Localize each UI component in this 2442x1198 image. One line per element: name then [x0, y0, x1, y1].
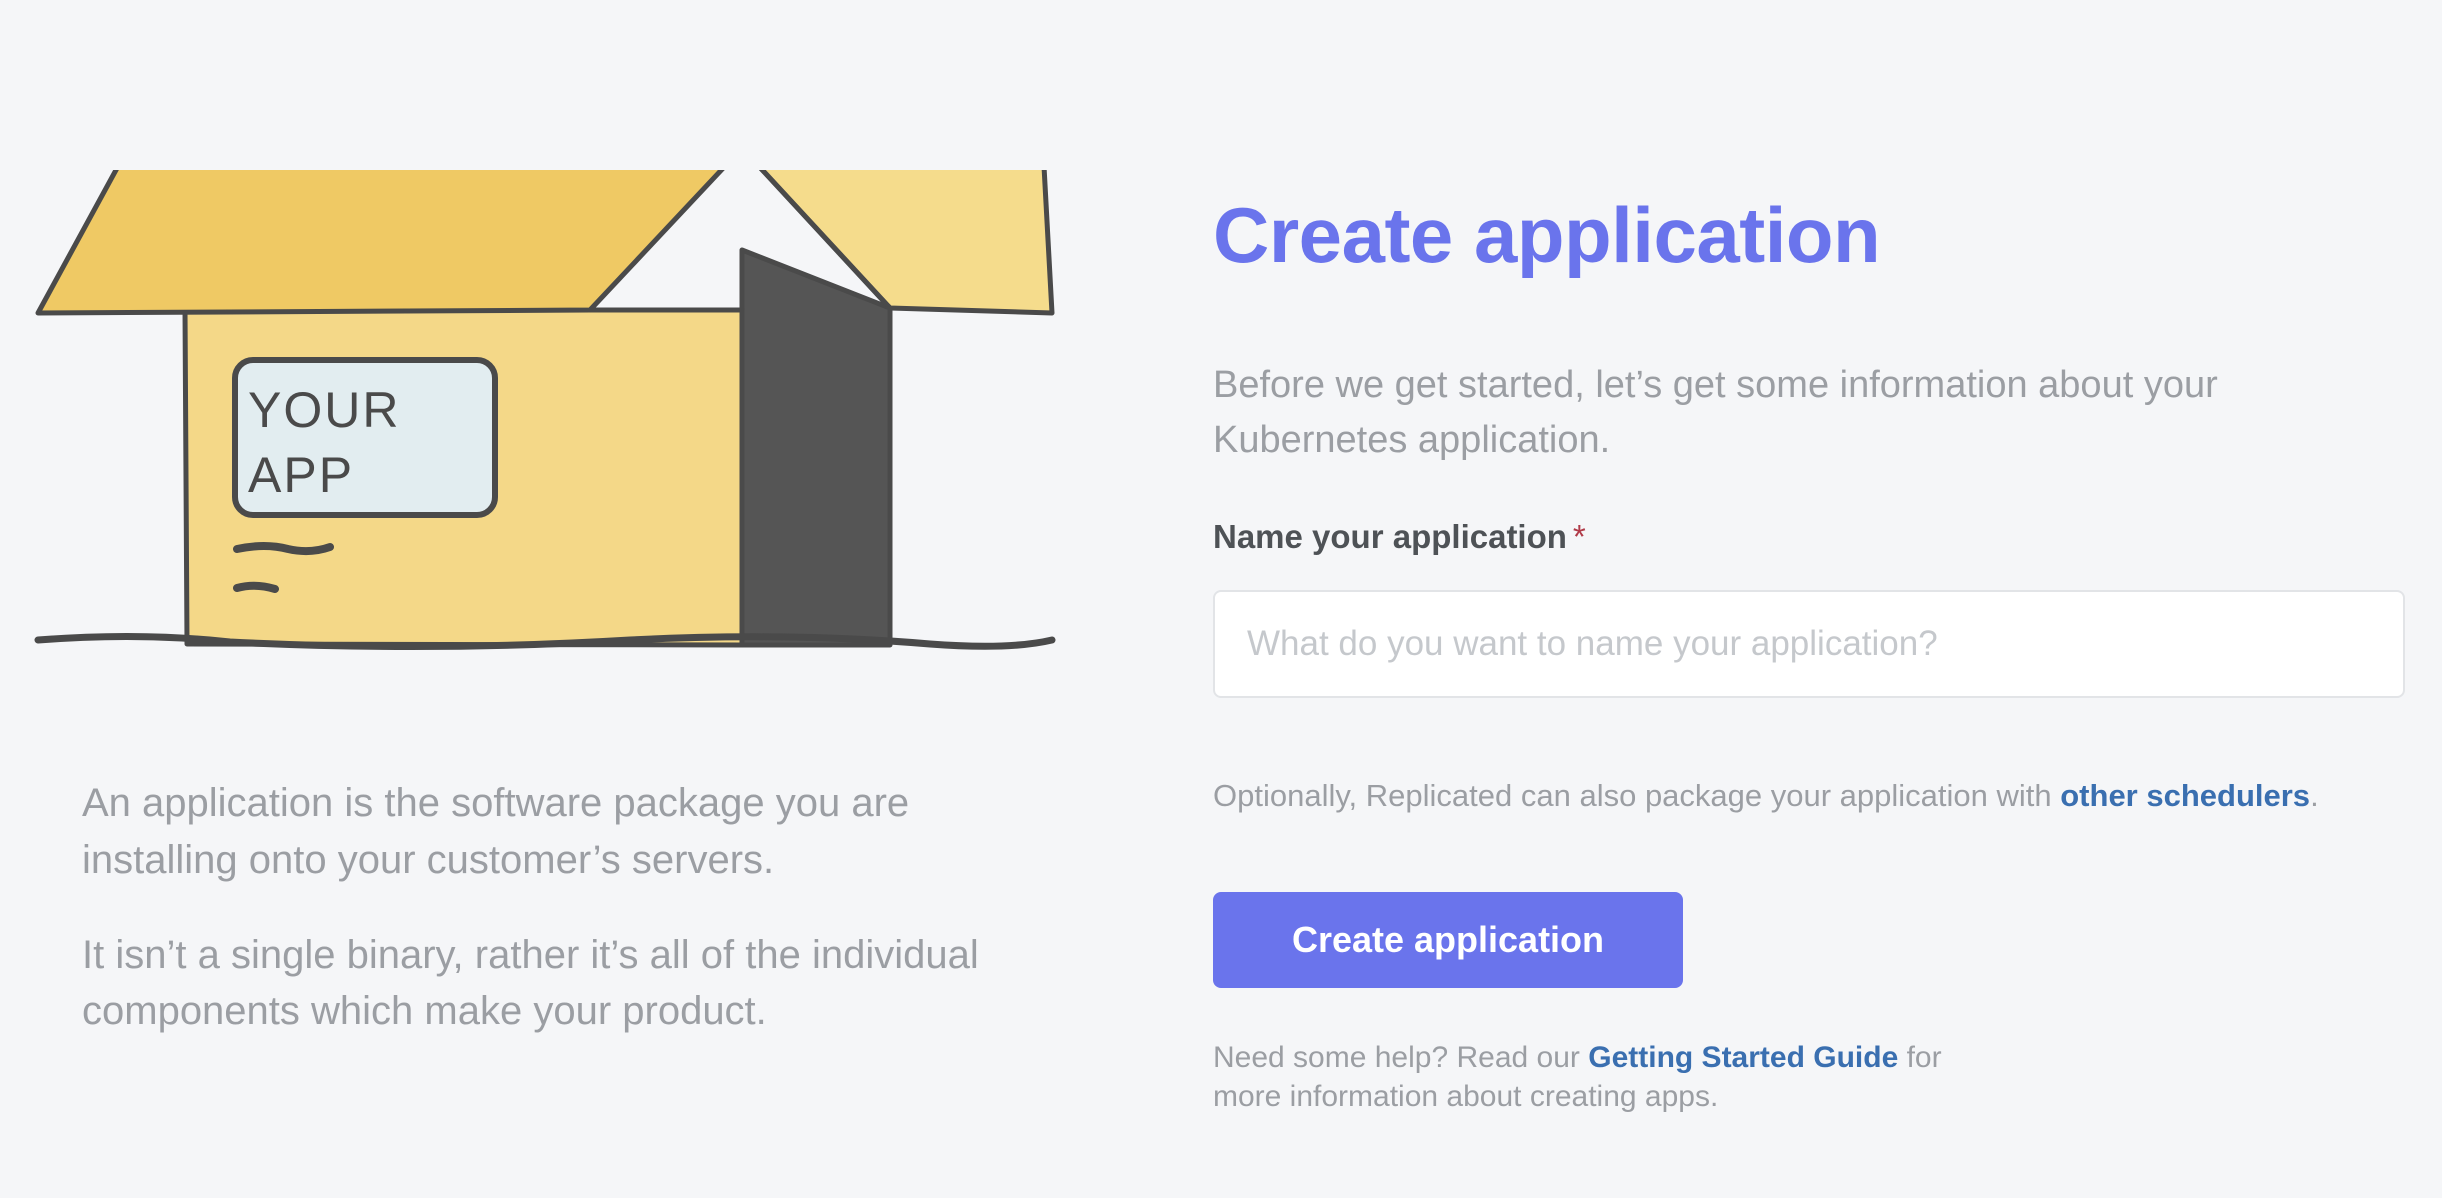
- page-title: Create application: [1213, 196, 1880, 274]
- left-paragraph-2: It isn’t a single binary, rather it’s al…: [82, 927, 1012, 1041]
- help-text: Need some help? Read our Getting Started…: [1213, 1038, 2013, 1116]
- required-asterisk: *: [1573, 518, 1586, 555]
- optional-note-prefix: Optionally, Replicated can also package …: [1213, 778, 2060, 813]
- help-text-prefix: Need some help? Read our: [1213, 1041, 1588, 1074]
- box-side-panel: [742, 250, 890, 645]
- name-field-label: Name your application*: [1213, 518, 1586, 556]
- left-paragraph-1: An application is the software package y…: [82, 775, 1012, 889]
- optional-note-suffix: .: [2310, 778, 2319, 813]
- box-flap-left: [38, 170, 742, 313]
- right-column: Create application Before we get started…: [1213, 0, 2413, 1198]
- left-description: An application is the software package y…: [82, 775, 1012, 1040]
- getting-started-guide-link[interactable]: Getting Started Guide: [1588, 1041, 1898, 1074]
- cardboard-box-illustration: YOUR APP: [30, 170, 1060, 740]
- box-dash-long: [237, 546, 330, 551]
- other-schedulers-link[interactable]: other schedulers: [2060, 778, 2310, 813]
- intro-text: Before we get started, let’s get some in…: [1213, 358, 2348, 468]
- create-application-page: YOUR APP An application is the software …: [0, 0, 2442, 1198]
- box-dash-short: [237, 586, 275, 589]
- optional-schedulers-note: Optionally, Replicated can also package …: [1213, 778, 2319, 814]
- box-label-line2: APP: [248, 447, 354, 503]
- create-application-button[interactable]: Create application: [1213, 892, 1683, 988]
- box-label-line1: YOUR: [248, 382, 400, 438]
- name-field-label-text: Name your application: [1213, 518, 1567, 555]
- left-column: YOUR APP An application is the software …: [0, 0, 1110, 1198]
- application-name-input[interactable]: [1213, 590, 2405, 698]
